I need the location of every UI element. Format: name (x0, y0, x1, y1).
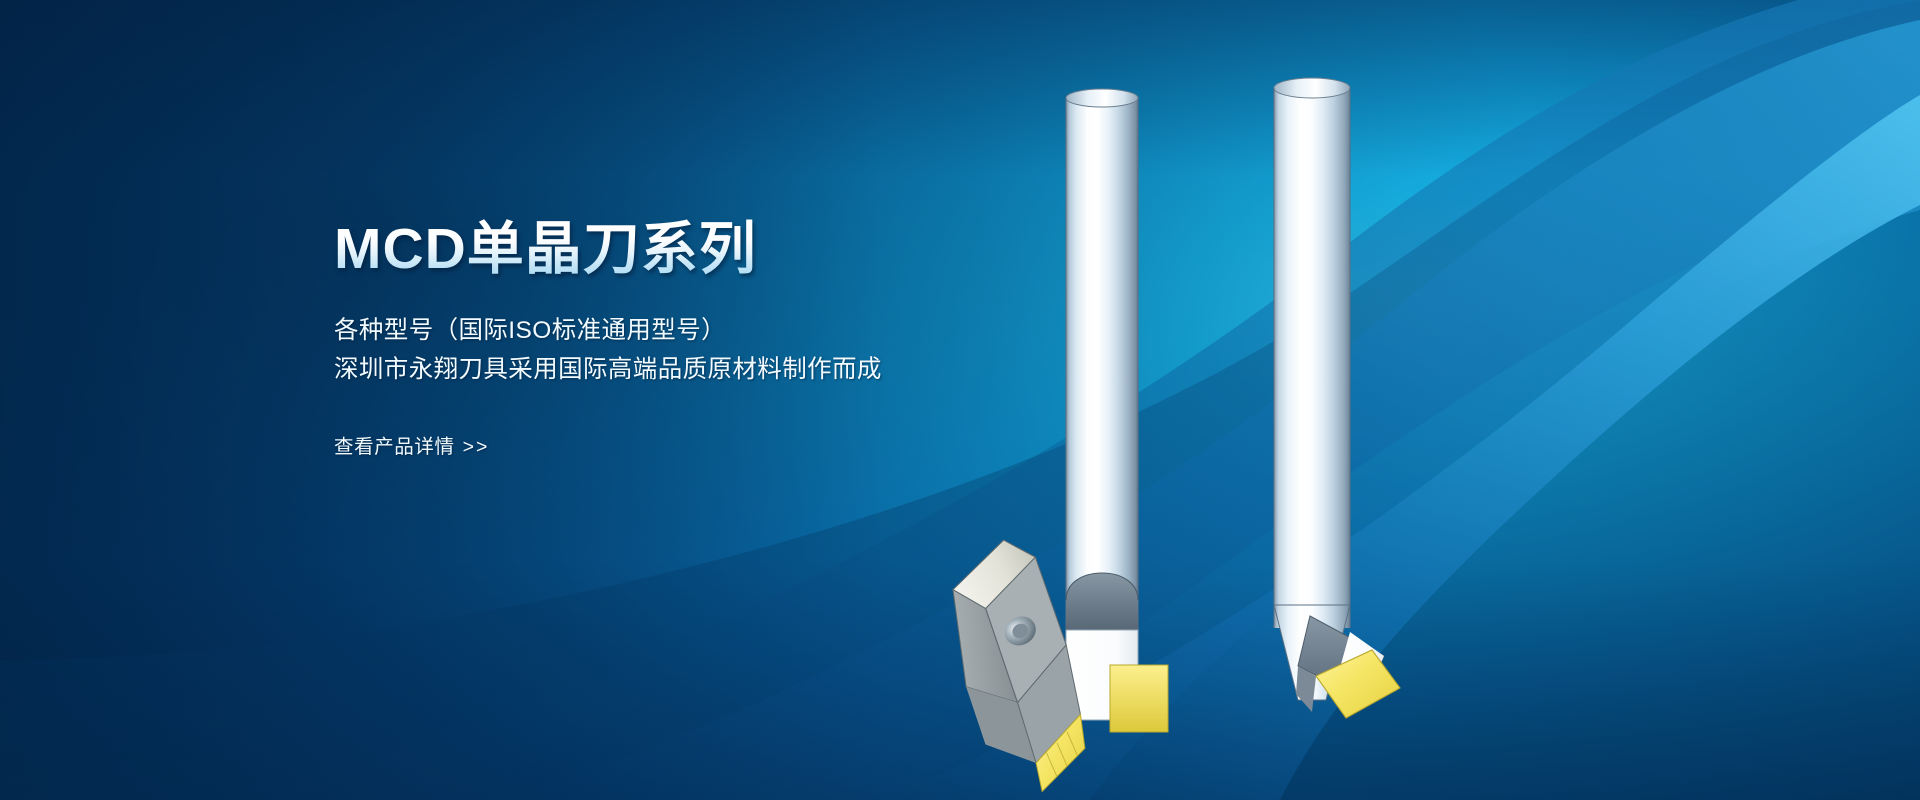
product-banner: MCD单晶刀系列 各种型号（国际ISO标准通用型号） 深圳市永翔刀具采用国际高端… (0, 0, 1920, 800)
page-title: MCD单晶刀系列 (334, 218, 1094, 281)
subtitle-line-1: 各种型号（国际ISO标准通用型号） (334, 311, 1094, 351)
view-product-details-link[interactable]: 查看产品详情>> (334, 430, 489, 459)
tool-holder-right (1274, 78, 1400, 718)
subtitle-line-2: 深圳市永翔刀具采用国际高端品质原材料制作而成 (334, 350, 1094, 390)
cta-label: 查看产品详情 (334, 436, 455, 458)
banner-copy: MCD单晶刀系列 各种型号（国际ISO标准通用型号） 深圳市永翔刀具采用国际高端… (334, 218, 1094, 459)
shank-right-rect (1274, 88, 1350, 628)
mcd-tip-left (1110, 665, 1168, 732)
chevron-right-icon: >> (463, 436, 490, 458)
pocket-left (1066, 573, 1138, 630)
